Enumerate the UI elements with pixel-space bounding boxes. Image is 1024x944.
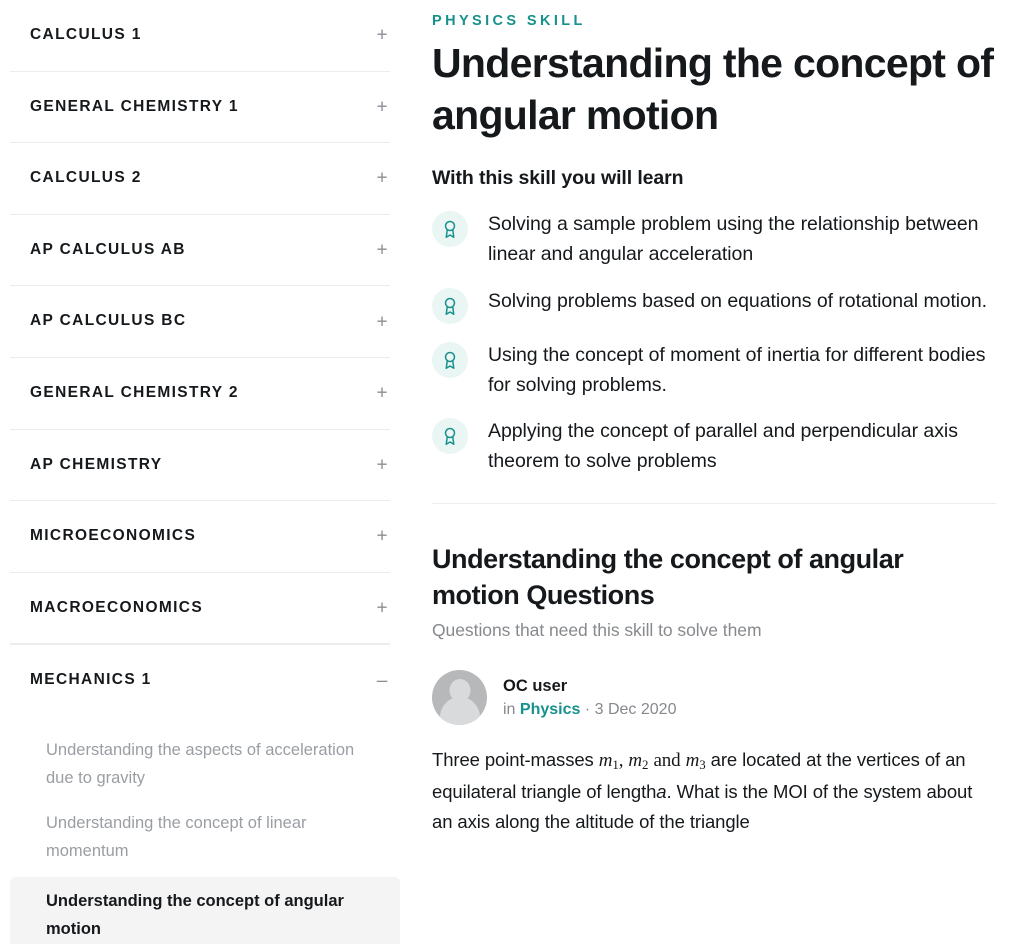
post-category-link[interactable]: Physics <box>520 701 580 718</box>
page-root: CALCULUS 1+GENERAL CHEMISTRY 1+CALCULUS … <box>0 0 1024 944</box>
subject-title: GENERAL CHEMISTRY 1 <box>30 98 239 117</box>
collapse-minus-icon[interactable]: – <box>374 671 390 690</box>
math-m2: m2 <box>628 750 648 771</box>
expand-plus-icon[interactable]: + <box>374 26 390 45</box>
subject-block: CALCULUS 1+ <box>0 0 432 72</box>
sidebar-subject-general-chemistry-1[interactable]: GENERAL CHEMISTRY 1+ <box>0 72 432 143</box>
subject-title: MECHANICS 1 <box>30 671 152 690</box>
sidebar-skill-item[interactable]: Understanding the aspects of acceleratio… <box>10 728 400 801</box>
expand-plus-icon[interactable]: + <box>374 455 390 474</box>
subject-title: GENERAL CHEMISTRY 2 <box>30 384 239 403</box>
sidebar-skill-item[interactable]: Understanding the concept of linear mome… <box>10 801 400 874</box>
subject-block: MECHANICS 1–Understanding the aspects of… <box>0 645 432 944</box>
skill-learn-list: Solving a sample problem using the relat… <box>432 209 996 477</box>
learn-section-heading: With this skill you will learn <box>432 167 996 190</box>
learn-item-text: Solving problems based on equations of r… <box>488 286 987 317</box>
learn-list-item: Solving problems based on equations of r… <box>432 286 996 324</box>
skill-main-content: PHYSICS SKILL Understanding the concept … <box>432 0 1024 944</box>
subject-block: MACROECONOMICS+ <box>0 573 432 645</box>
sidebar-subject-macroeconomics[interactable]: MACROECONOMICS+ <box>0 573 432 644</box>
sidebar-skill-item-active[interactable]: Understanding the concept of angular mot… <box>10 877 400 944</box>
subject-title: AP CALCULUS BC <box>30 312 186 331</box>
subject-title: MACROECONOMICS <box>30 599 203 618</box>
subject-block: GENERAL CHEMISTRY 2+ <box>0 358 432 430</box>
meta-in-label: in <box>503 701 515 718</box>
award-ribbon-icon <box>432 342 468 378</box>
question-text-part-1: Three point-masses <box>432 749 594 770</box>
learn-list-item: Solving a sample problem using the relat… <box>432 209 996 270</box>
subject-block: AP CALCULUS BC+ <box>0 286 432 358</box>
sidebar-subject-calculus-2[interactable]: CALCULUS 2+ <box>0 143 432 214</box>
subject-block: GENERAL CHEMISTRY 1+ <box>0 72 432 144</box>
page-title: Understanding the concept of angular mot… <box>432 37 996 141</box>
award-ribbon-icon <box>432 211 468 247</box>
subject-block: CALCULUS 2+ <box>0 143 432 215</box>
subject-title: MICROECONOMICS <box>30 527 196 546</box>
subject-block: AP CHEMISTRY+ <box>0 430 432 502</box>
math-m3: m3 <box>686 750 706 771</box>
math-comma: , <box>619 750 624 771</box>
author-name: OC user <box>503 675 676 697</box>
award-ribbon-icon <box>432 288 468 324</box>
expand-plus-icon[interactable]: + <box>374 599 390 618</box>
author-info: OC user in Physics · 3 Dec 2020 <box>503 675 676 720</box>
sidebar-subject-calculus-1[interactable]: CALCULUS 1+ <box>0 0 432 71</box>
post-date: 3 Dec 2020 <box>595 701 677 718</box>
sidebar-divider <box>10 643 390 644</box>
avatar-body-shape <box>440 697 480 725</box>
skill-category-eyebrow: PHYSICS SKILL <box>432 13 996 29</box>
subject-title: CALCULUS 1 <box>30 26 142 45</box>
sidebar-subject-general-chemistry-2[interactable]: GENERAL CHEMISTRY 2+ <box>0 358 432 429</box>
expand-plus-icon[interactable]: + <box>374 241 390 260</box>
sidebar-subject-mechanics-1[interactable]: MECHANICS 1– <box>0 645 432 716</box>
learn-item-text: Using the concept of moment of inertia f… <box>488 340 996 401</box>
expand-plus-icon[interactable]: + <box>374 312 390 331</box>
question-author-row: OC user in Physics · 3 Dec 2020 <box>432 670 996 725</box>
subject-block: MICROECONOMICS+ <box>0 501 432 573</box>
learn-list-item: Using the concept of moment of inertia f… <box>432 340 996 401</box>
expand-plus-icon[interactable]: + <box>374 97 390 116</box>
questions-subtitle: Questions that need this skill to solve … <box>432 620 996 641</box>
subject-title: CALCULUS 2 <box>30 169 142 188</box>
learn-item-text: Applying the concept of parallel and per… <box>488 416 996 477</box>
subject-skill-list: Understanding the aspects of acceleratio… <box>0 716 432 944</box>
subject-list: CALCULUS 1+GENERAL CHEMISTRY 1+CALCULUS … <box>0 0 432 944</box>
subject-title: AP CALCULUS AB <box>30 241 186 260</box>
learn-list-item: Applying the concept of parallel and per… <box>432 416 996 477</box>
sidebar-subject-ap-calculus-bc[interactable]: AP CALCULUS BC+ <box>0 286 432 357</box>
learn-item-text: Solving a sample problem using the relat… <box>488 209 996 270</box>
questions-heading: Understanding the concept of angular mot… <box>432 542 996 613</box>
meta-separator: · <box>585 701 590 718</box>
expand-plus-icon[interactable]: + <box>374 384 390 403</box>
sidebar-subject-microeconomics[interactable]: MICROECONOMICS+ <box>0 501 432 572</box>
expand-plus-icon[interactable]: + <box>374 169 390 188</box>
math-m1: m1 <box>599 750 619 771</box>
avatar <box>432 670 487 725</box>
question-var-a: a <box>656 781 666 802</box>
question-body-text: Three point-masses m1, m2 and m3 are loc… <box>432 745 996 837</box>
math-and: and <box>653 750 680 771</box>
award-ribbon-icon <box>432 418 468 454</box>
subject-title: AP CHEMISTRY <box>30 456 162 475</box>
content-divider <box>432 503 996 504</box>
sidebar-subject-ap-chemistry[interactable]: AP CHEMISTRY+ <box>0 430 432 501</box>
subject-sidebar: CALCULUS 1+GENERAL CHEMISTRY 1+CALCULUS … <box>0 0 432 944</box>
subject-block: AP CALCULUS AB+ <box>0 215 432 287</box>
expand-plus-icon[interactable]: + <box>374 527 390 546</box>
sidebar-subject-ap-calculus-ab[interactable]: AP CALCULUS AB+ <box>0 215 432 286</box>
post-meta: in Physics · 3 Dec 2020 <box>503 700 676 721</box>
